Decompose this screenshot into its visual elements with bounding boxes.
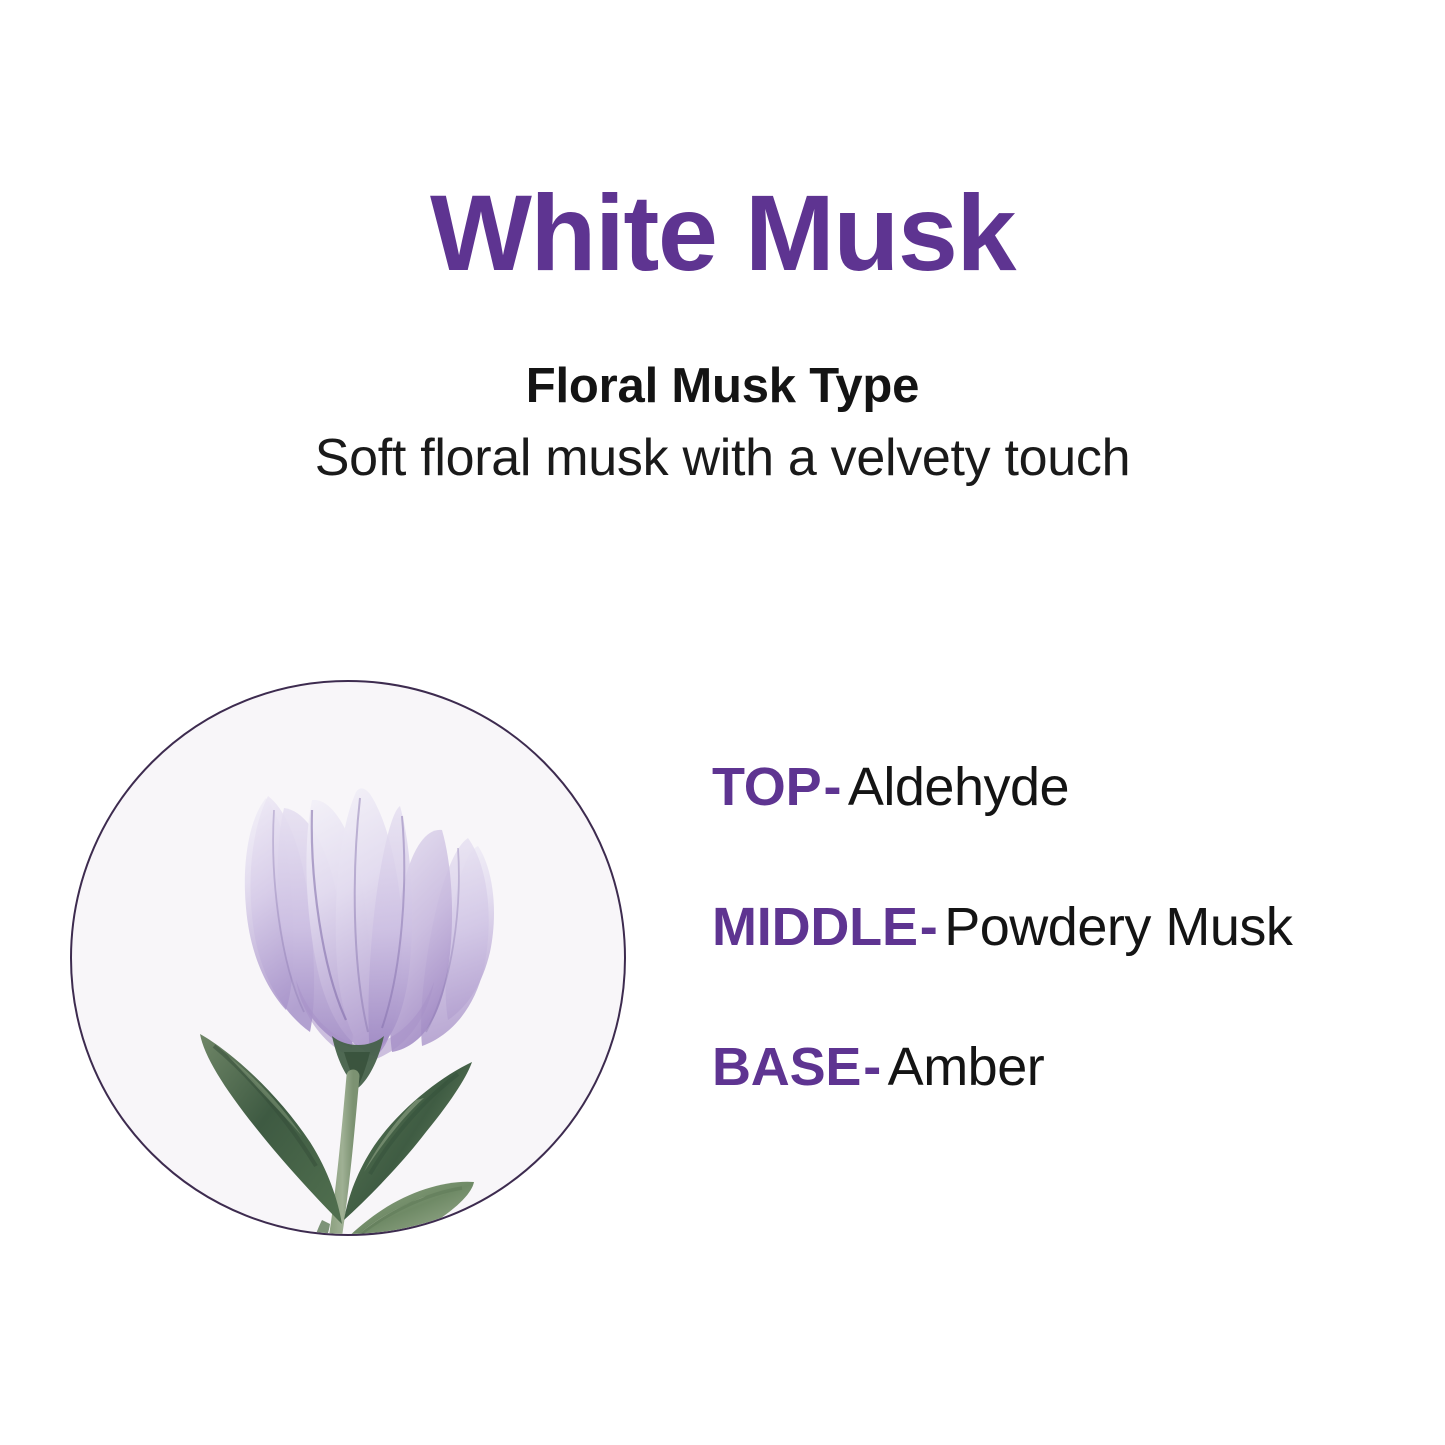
fragrance-type-subtitle: Floral Musk Type	[0, 360, 1445, 414]
fragrance-card: White Musk Floral Musk Type Soft floral …	[0, 0, 1445, 1445]
tulip-flower-icon	[70, 680, 626, 1236]
note-row-base: BASE- Amber	[712, 1040, 1412, 1180]
page-title: White Musk	[0, 176, 1445, 289]
note-separator-middle: -	[918, 897, 940, 957]
note-label-base: BASE	[712, 1037, 861, 1097]
fragrance-description: Soft floral musk with a velvety touch	[0, 429, 1445, 489]
note-separator-top: -	[821, 757, 843, 817]
note-value-middle: Powdery Musk	[944, 897, 1292, 957]
note-row-top: TOP- Aldehyde	[712, 760, 1412, 900]
flower-illustration-circle	[70, 680, 626, 1236]
note-label-middle: MIDDLE	[712, 897, 918, 957]
note-value-top: Aldehyde	[848, 757, 1069, 817]
note-value-base: Amber	[888, 1037, 1045, 1097]
fragrance-notes-list: TOP- Aldehyde MIDDLE- Powdery Musk BASE-…	[712, 760, 1412, 1180]
note-row-middle: MIDDLE- Powdery Musk	[712, 900, 1412, 1040]
note-separator-base: -	[861, 1037, 883, 1097]
note-label-top: TOP	[712, 757, 821, 817]
